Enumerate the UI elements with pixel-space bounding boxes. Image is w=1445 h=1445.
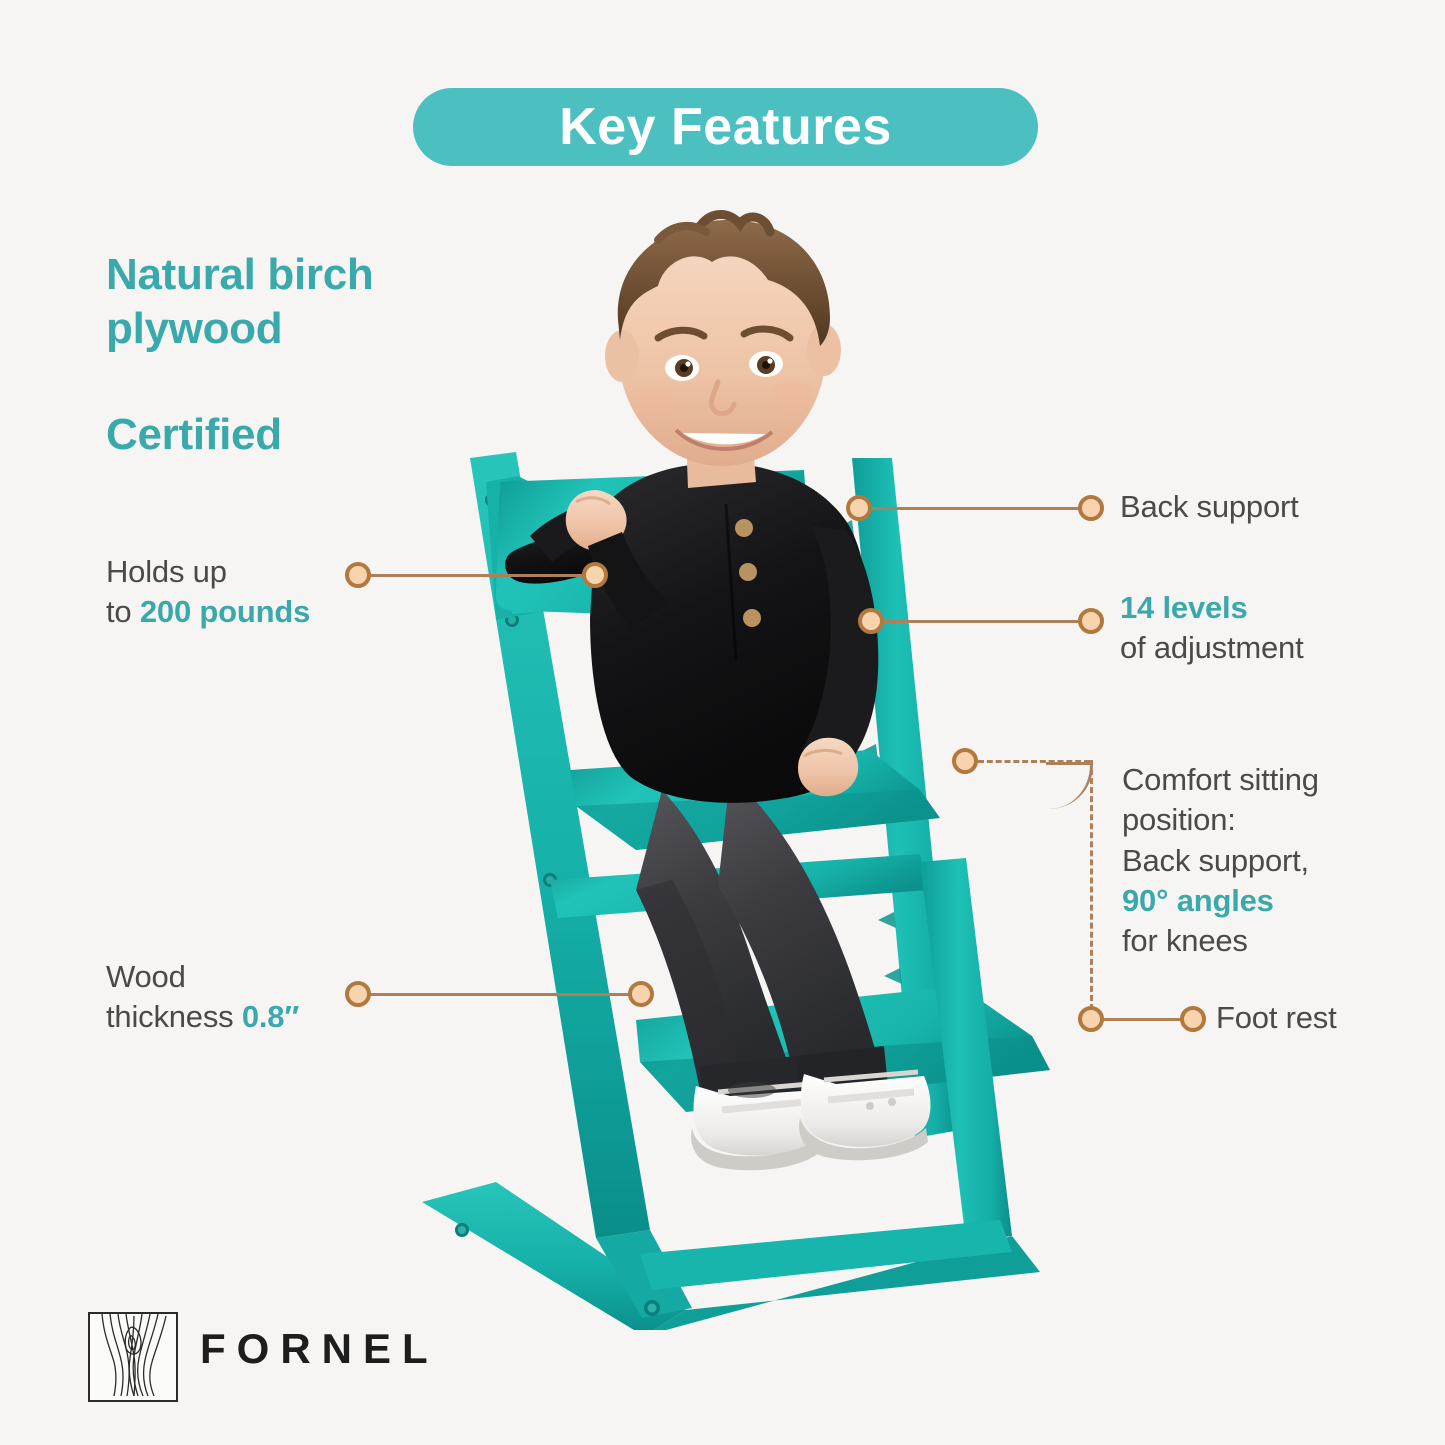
wood-thickness-line2: thickness 0.8″ (106, 997, 386, 1037)
connector-dot-levels-target (858, 608, 884, 634)
connector-dot-wood-thickness-label (345, 981, 371, 1007)
back-support-label: Back support (1120, 487, 1420, 527)
levels-accent: 14 levels (1120, 588, 1420, 628)
wood-thickness-value: 0.8″ (242, 999, 299, 1034)
connector-line-foot-rest (1091, 1018, 1189, 1021)
wood-thickness-prefix: thickness (106, 999, 242, 1034)
material-heading-line2: plywood (106, 302, 466, 356)
callout-back-support: Back support (1120, 487, 1420, 527)
connector-dot-holds-up-target (582, 562, 608, 588)
connector-dot-back-support-target (846, 495, 872, 521)
wood-grain-logo-icon (88, 1312, 178, 1402)
connector-dot-comfort-target (952, 748, 978, 774)
comfort-bracket-vertical (1090, 760, 1093, 1010)
chair-base (422, 1182, 1040, 1330)
connector-dot-holds-up-label (345, 562, 371, 588)
comfort-line4: 90° angles (1122, 881, 1432, 921)
key-features-badge: Key Features (413, 88, 1038, 166)
comfort-line3: Back support, (1122, 841, 1432, 881)
callout-wood-thickness: Wood thickness 0.8″ (106, 957, 386, 1038)
connector-dot-foot-rest-label (1180, 1006, 1206, 1032)
connector-dot-foot-rest-target (1078, 1006, 1104, 1032)
wood-thickness-line1: Wood (106, 957, 386, 997)
connector-dot-back-support-label (1078, 495, 1104, 521)
holds-up-line2: to 200 pounds (106, 592, 376, 632)
connector-line-levels (872, 620, 1092, 623)
material-heading-line1: Natural birch (106, 248, 466, 302)
holds-up-line1: Holds up (106, 552, 376, 592)
connector-dot-levels-label (1078, 608, 1104, 634)
callout-foot-rest: Foot rest (1216, 998, 1436, 1038)
comfort-line5: for knees (1122, 921, 1432, 961)
callout-comfort: Comfort sitting position: Back support, … (1122, 760, 1432, 961)
connector-dot-wood-thickness-target (628, 981, 654, 1007)
connector-line-back-support (860, 507, 1092, 510)
holds-up-value: 200 pounds (140, 594, 310, 629)
certified-heading-label: Certified (106, 408, 466, 462)
certified-heading: Certified (106, 408, 466, 462)
callout-levels: 14 levels of adjustment (1120, 588, 1420, 669)
connector-line-wood-thickness (358, 993, 644, 996)
connector-line-holds-up (358, 574, 598, 577)
holds-up-prefix: to (106, 594, 140, 629)
comfort-angle-value: 90° angles (1122, 883, 1274, 918)
key-features-label: Key Features (559, 97, 892, 157)
brand-name: FORNEL (200, 1325, 439, 1373)
comfort-line1: Comfort sitting (1122, 760, 1432, 800)
callout-holds-up: Holds up to 200 pounds (106, 552, 376, 633)
right-angle-arc-icon (1046, 762, 1093, 809)
levels-value: 14 levels (1120, 590, 1247, 625)
foot-rest-label: Foot rest (1216, 998, 1436, 1038)
infographic-canvas: Key Features (0, 0, 1445, 1445)
comfort-line2: position: (1122, 800, 1432, 840)
material-heading: Natural birch plywood (106, 248, 466, 355)
levels-plain: of adjustment (1120, 628, 1420, 668)
